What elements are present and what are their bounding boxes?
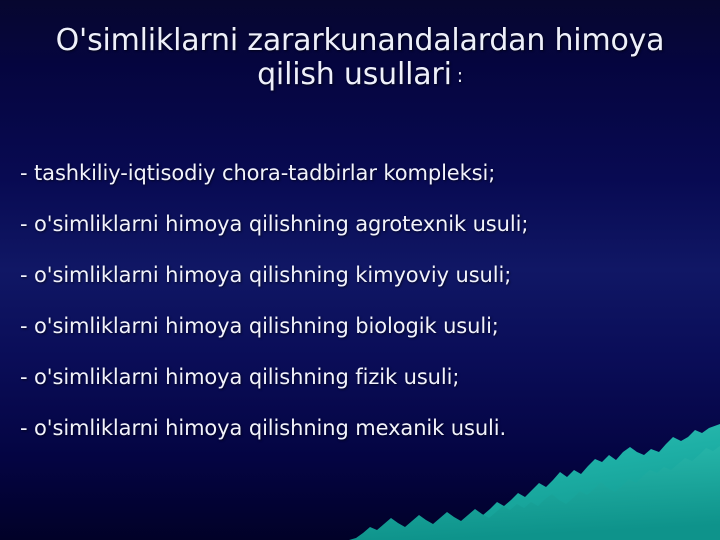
list-item: - o'simliklarni himoya qilishning fizik … — [20, 364, 710, 415]
list-item: - o'simliklarni himoya qilishning biolog… — [20, 313, 710, 364]
list-item: - o'simliklarni himoya qilishning agrote… — [20, 211, 710, 262]
slide-title-line-2-text: qilish usullari — [257, 57, 452, 92]
list-item: - o'simliklarni himoya qilishning mexani… — [20, 415, 710, 466]
presentation-slide: O'simliklarni zararkunandalardan himoya … — [0, 0, 720, 540]
list-item: - o'simliklarni himoya qilishning kimyov… — [20, 262, 710, 313]
slide-title-line-2: qilish usullari: — [18, 58, 702, 93]
slide-title: O'simliklarni zararkunandalardan himoya … — [0, 24, 720, 93]
slide-title-line-1: O'simliklarni zararkunandalardan himoya — [18, 24, 702, 58]
list-item: - tashkiliy-iqtisodiy chora-tadbirlar ko… — [20, 160, 710, 211]
slide-title-colon: : — [452, 65, 463, 87]
bullet-list: - tashkiliy-iqtisodiy chora-tadbirlar ko… — [20, 160, 710, 466]
